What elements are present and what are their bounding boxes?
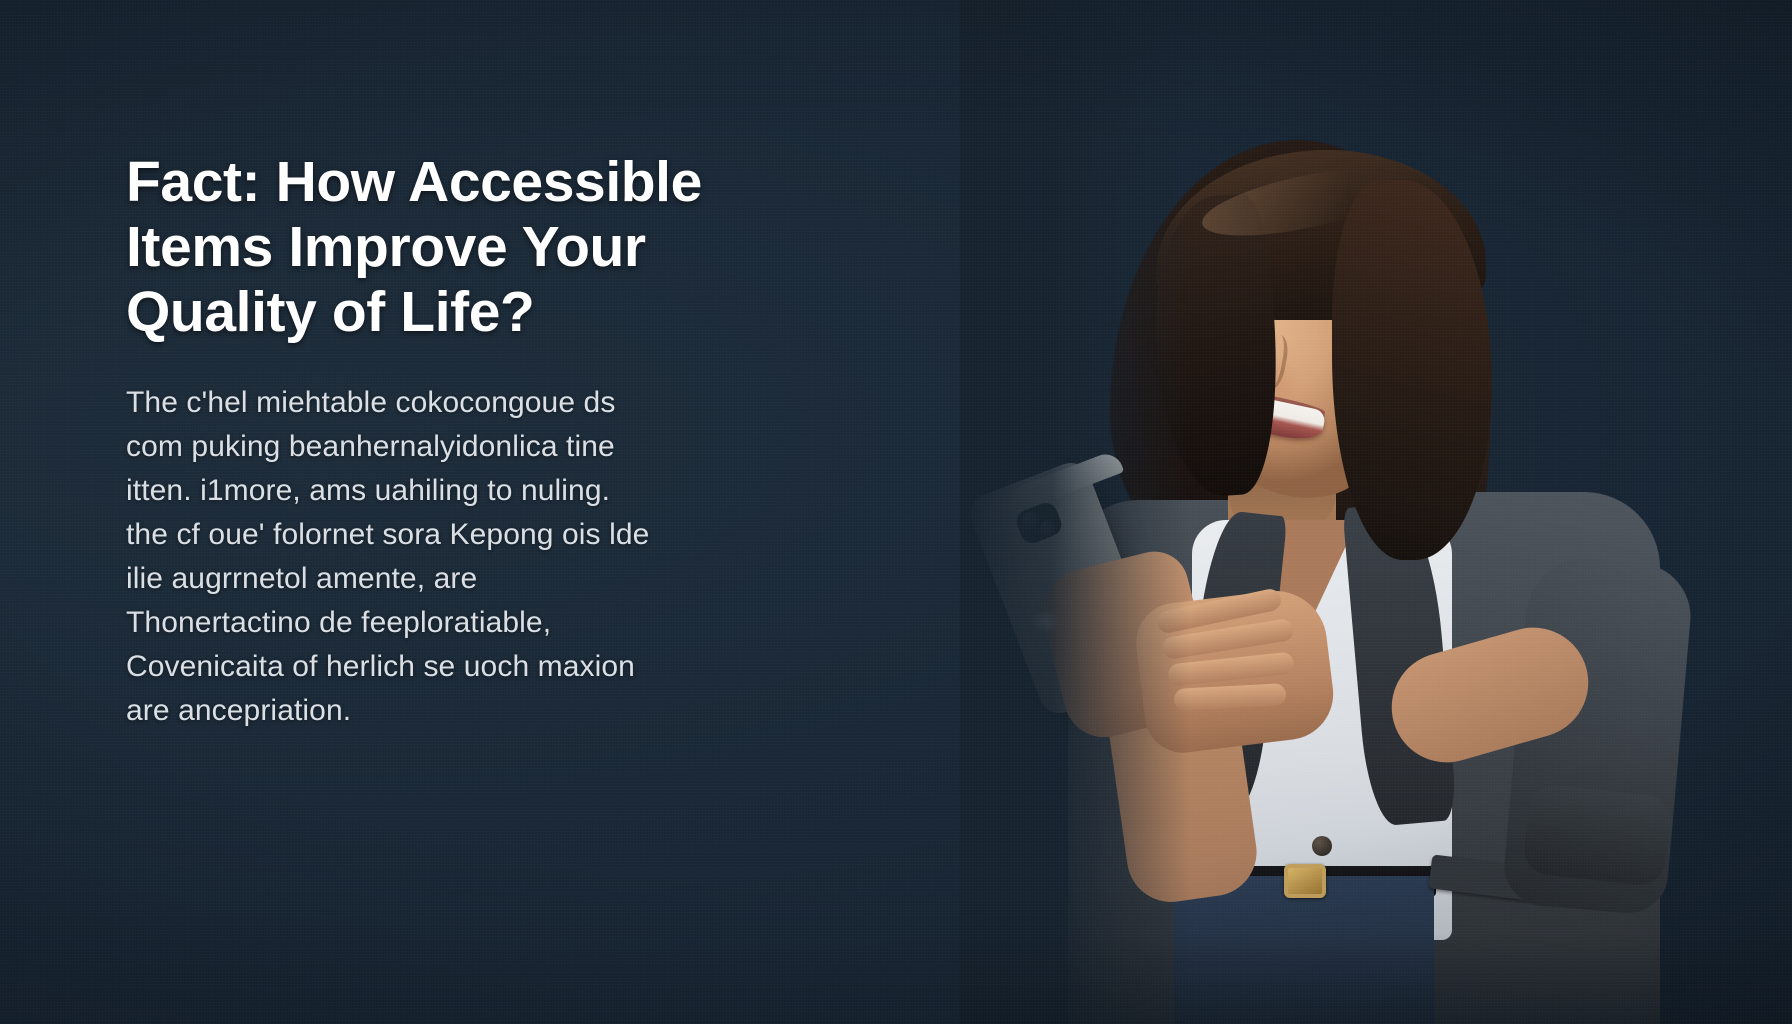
body-line: ilie augrrnetol amente, are — [126, 557, 806, 601]
promo-banner: Fact: How Accessible Items Improve Your … — [0, 0, 1792, 1024]
jeans — [1174, 876, 1434, 1024]
body-line: Covenicaita of herlich se uoch maxion — [126, 645, 806, 689]
body-line: the cf oue' folornet sora Kepong ois lde — [126, 513, 806, 557]
headline: Fact: How Accessible Items Improve Your … — [126, 150, 786, 345]
hero-photo — [960, 0, 1792, 1024]
body-line: The c'hel miehtable cokocongoue ds — [126, 381, 806, 425]
blazer-right-cuff — [1522, 783, 1673, 887]
blazer-button — [1312, 836, 1332, 856]
body-paragraph: The c'hel miehtable cokocongoue ds com p… — [126, 381, 806, 733]
body-line: com puking beanhernalyidonlica tine — [126, 425, 806, 469]
body-line: Thonertactino de feeploratiable, — [126, 601, 806, 645]
text-column: Fact: How Accessible Items Improve Your … — [126, 150, 826, 733]
body-line: are ancepriation. — [126, 689, 806, 733]
belt-buckle — [1284, 864, 1326, 898]
body-line: itten. i1more, ams uahiling to nuling. — [126, 469, 806, 513]
phone-screen-glint — [1030, 610, 1060, 632]
